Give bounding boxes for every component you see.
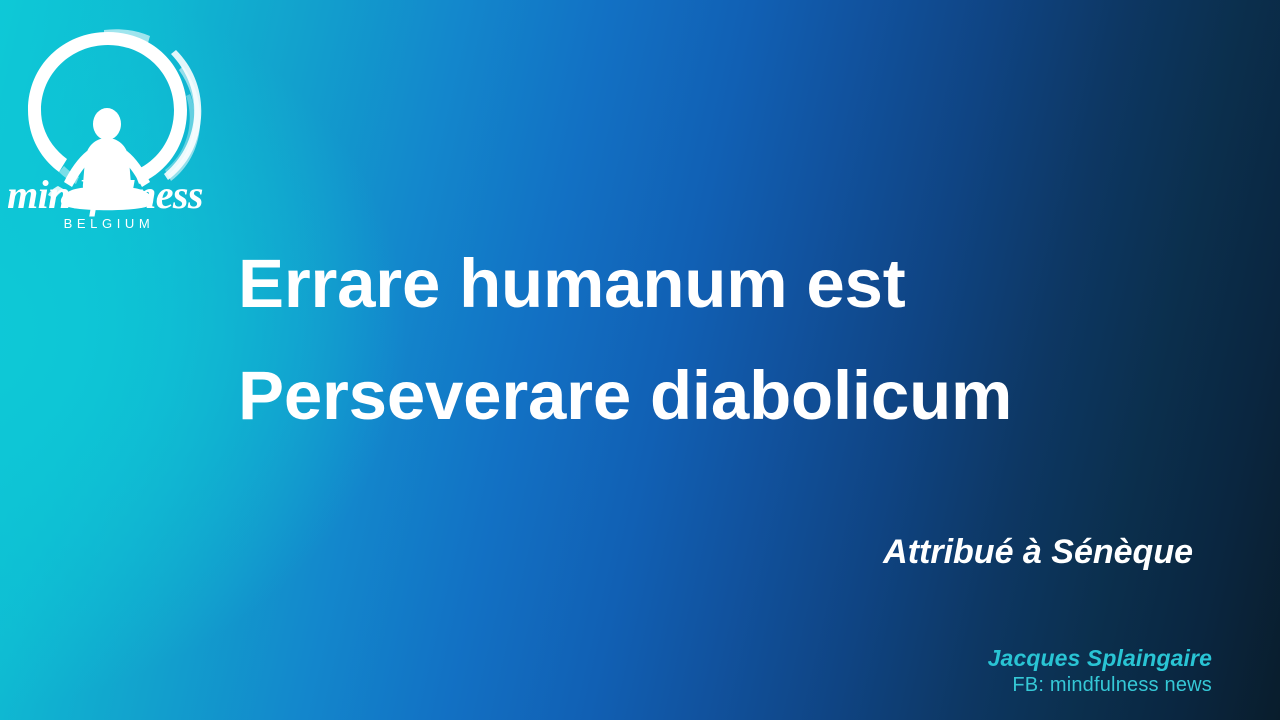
quote-line-2: Perseverare diabolicum [238,340,1178,452]
quote-attribution: Attribué à Sénèque [0,533,1193,572]
mindfulness-belgium-logo: mindfulness BELGIUM [8,18,203,233]
author-name: Jacques Splaingaire [0,645,1212,672]
logo-region-text: BELGIUM [64,216,155,231]
logo-wordmark: mindfulness BELGIUM [8,172,203,231]
quote-title: Errare humanum est Perseverare diabolicu… [238,228,1178,452]
quote-slide: mindfulness BELGIUM Errare humanum est P… [0,0,1280,720]
author-credit: Jacques Splaingaire FB: mindfulness news [0,645,1212,698]
quote-line-1: Errare humanum est [238,228,1178,340]
logo-brand-text: mindfulness [8,172,203,217]
author-social-handle: FB: mindfulness news [0,672,1212,698]
